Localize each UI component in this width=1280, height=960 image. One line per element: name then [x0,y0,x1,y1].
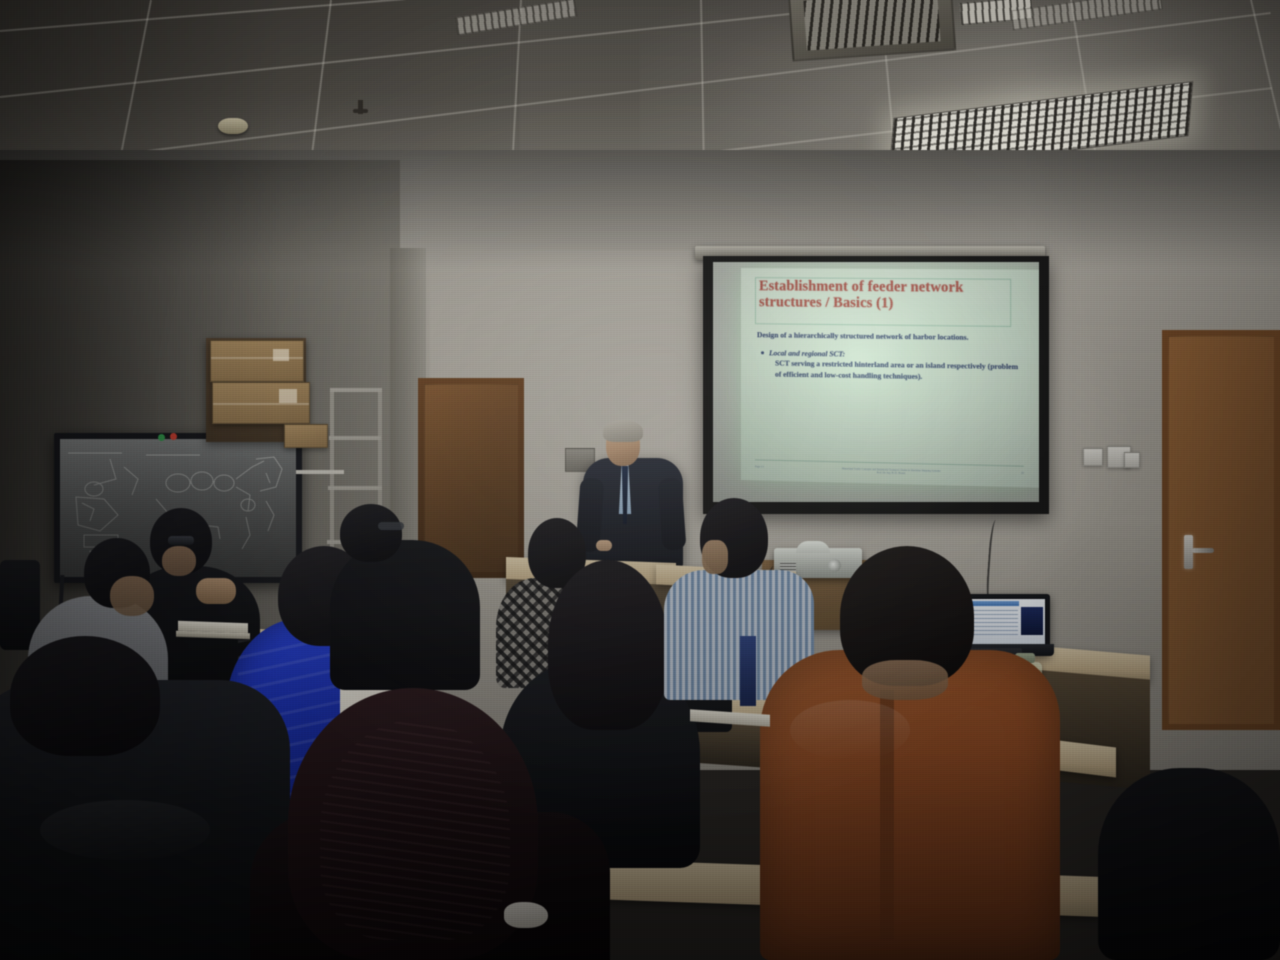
attendee-neck [862,660,948,700]
slide-bullet-lead: Local and regional SCT: [769,348,845,358]
rack-shelf [330,388,382,392]
slide-title-line-2: structures / Basics (1) [759,294,1015,313]
projector-lens-icon [828,559,841,572]
box-label [279,389,297,403]
attendee-torso [330,540,480,690]
hair-strands [320,720,510,940]
jacket-highlight [790,700,910,760]
projector-dome [796,541,830,553]
attendee-head [340,504,402,562]
slide-footer-center-line-2: Prof. Dr. Ing. H.-D. Haasis [877,472,906,476]
glasses-icon [378,522,404,530]
cardboard-box [284,424,328,448]
slide-footer: Page 1/1 Hinterland Traffic Concepts and… [755,465,1024,479]
slide-body: Design of a hierarchically structured ne… [757,330,1026,386]
attendee-face [110,576,154,616]
cardboard-box [210,340,304,382]
box-tape [213,403,309,405]
slide-footer-page-number: 20 [1021,472,1024,475]
box-label [273,349,289,361]
attendee-neck [702,540,728,574]
presenter-arm-right [658,477,687,550]
attendee-face [162,546,196,576]
whiteboard-magnet-red[interactable] [170,433,177,440]
slide-title: Establishment of feeder network structur… [759,278,1015,313]
rack-shelf [329,436,381,440]
attendee-hands [196,578,236,604]
attendee-hair [548,560,668,730]
presenter-hair [603,420,643,442]
sprinkler-head-icon [358,100,363,114]
power-outlet-plate[interactable] [1083,448,1103,466]
coat-highlight [40,800,210,860]
slide-bullet-list: Local and regional SCT: SCT serving a re… [757,348,1026,384]
folder [740,636,756,706]
smoke-detector-icon [218,118,248,134]
attendee-torso [1098,768,1280,960]
slide-bullet-detail: SCT serving a restricted hinterland area… [769,359,1026,384]
photo-scene: Establishment of feeder network structur… [0,0,1280,960]
attendee-head [10,636,160,756]
presenter-hand [596,540,612,551]
slide-footer-center: Hinterland Traffic Concepts and Intermod… [764,465,1021,479]
door-right[interactable] [1162,330,1280,730]
door-frame [1162,330,1280,730]
rack-shelf [296,470,344,474]
window-side-panel [1021,607,1043,635]
slide-footer-left: Page 1/1 [755,465,764,468]
whiteboard-magnet-green[interactable] [158,434,165,441]
slide-intro-text: Design of a hierarchically structured ne… [757,330,1026,344]
paper-tissue [504,902,548,928]
slide-bullet-item: Local and regional SCT: SCT serving a re… [769,348,1026,384]
projection-screen: Establishment of feeder network structur… [713,262,1039,502]
rack-shelf [328,486,382,490]
box-tape [211,357,303,359]
cardboard-box [212,382,310,424]
presentation-slide: Establishment of feeder network structur… [741,268,1039,488]
light-switch-plate[interactable] [1124,452,1140,468]
glasses-icon [168,536,194,545]
